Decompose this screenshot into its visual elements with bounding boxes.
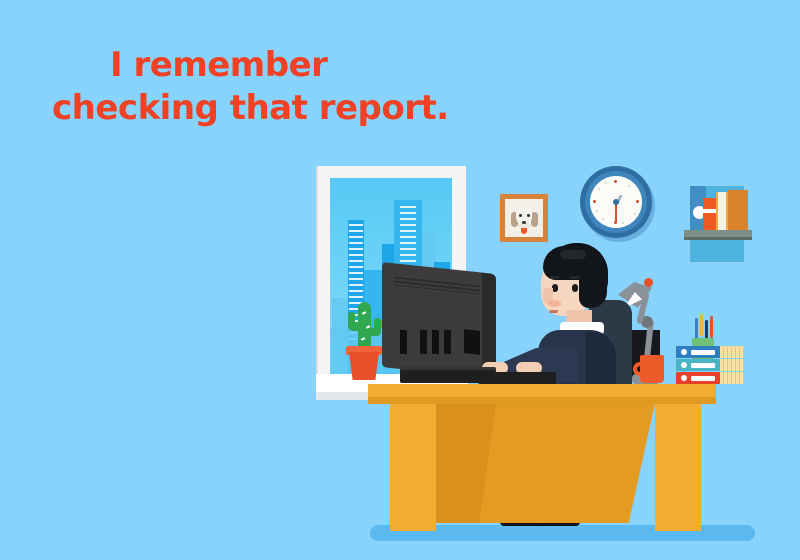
clock-tick-9 [593, 200, 596, 203]
person-eye-right [572, 284, 578, 292]
coffee-mug [640, 355, 664, 383]
caption-line-1: I remember [110, 44, 472, 87]
monitor-port [420, 330, 427, 355]
person-cheek [548, 300, 561, 307]
person-mouth [549, 310, 558, 313]
person-eyebrow-right [570, 276, 580, 279]
dog-eye-left-icon [519, 214, 522, 217]
book-pages [716, 359, 744, 371]
clock-tick-minor [622, 222, 624, 224]
plant-pot [349, 352, 379, 380]
clock-tick-minor [598, 188, 600, 190]
person-eyebrow-left [550, 276, 560, 279]
desk-leg-right [655, 403, 701, 531]
shelf-book-white [716, 192, 728, 230]
binder-label [691, 350, 715, 355]
dog-eye-right-icon [527, 214, 530, 217]
binder-ring [681, 349, 687, 355]
shelf-book-orange [703, 198, 716, 230]
clock-tick-minor [628, 185, 630, 187]
monitor-port [400, 330, 407, 355]
caption-line-2: checking that report. [52, 87, 472, 130]
desk-leg-left [390, 403, 436, 531]
binder-ring [681, 362, 687, 368]
binder-blue [676, 346, 720, 358]
book-pages [716, 372, 744, 384]
clock-tick-minor [634, 213, 636, 215]
binder-teal [676, 359, 720, 371]
clock-tick-minor [596, 210, 598, 212]
book-pages [716, 346, 744, 358]
binder-label [691, 376, 715, 381]
person-hair-sheen [560, 250, 586, 259]
pen-blue [695, 318, 698, 340]
shelf-book-brown [728, 190, 748, 230]
caption-text: I remember checking that report. [52, 44, 472, 129]
keyboard-extension [478, 372, 556, 384]
clock-tick-minor [602, 218, 604, 220]
clock-tick-12 [614, 180, 617, 183]
clock-tick-minor [605, 182, 607, 184]
clock-center-pin [613, 199, 619, 205]
monitor-port [444, 330, 451, 355]
desk-top-edge [368, 397, 716, 404]
binder-red [676, 372, 720, 384]
wall-shelf-board-shadow [684, 237, 752, 240]
binder-label [691, 363, 715, 368]
monitor-port [464, 329, 480, 355]
dog-nose-icon [522, 221, 526, 224]
desk-lamp-knob [644, 278, 653, 287]
shelf-book-orange-stripe [703, 209, 716, 213]
monitor-port [432, 330, 439, 355]
wall-shelf-board [684, 230, 752, 237]
person-hair-side [579, 252, 607, 308]
dog-tongue-icon [521, 228, 527, 234]
clock-tick-3 [636, 200, 639, 203]
dog-ear-right-icon [531, 212, 538, 227]
pen-red [710, 316, 713, 338]
illustration-canvas: I remember checking that report. [0, 0, 800, 560]
binder-ring [681, 375, 687, 381]
pencil-yellow [700, 314, 703, 336]
